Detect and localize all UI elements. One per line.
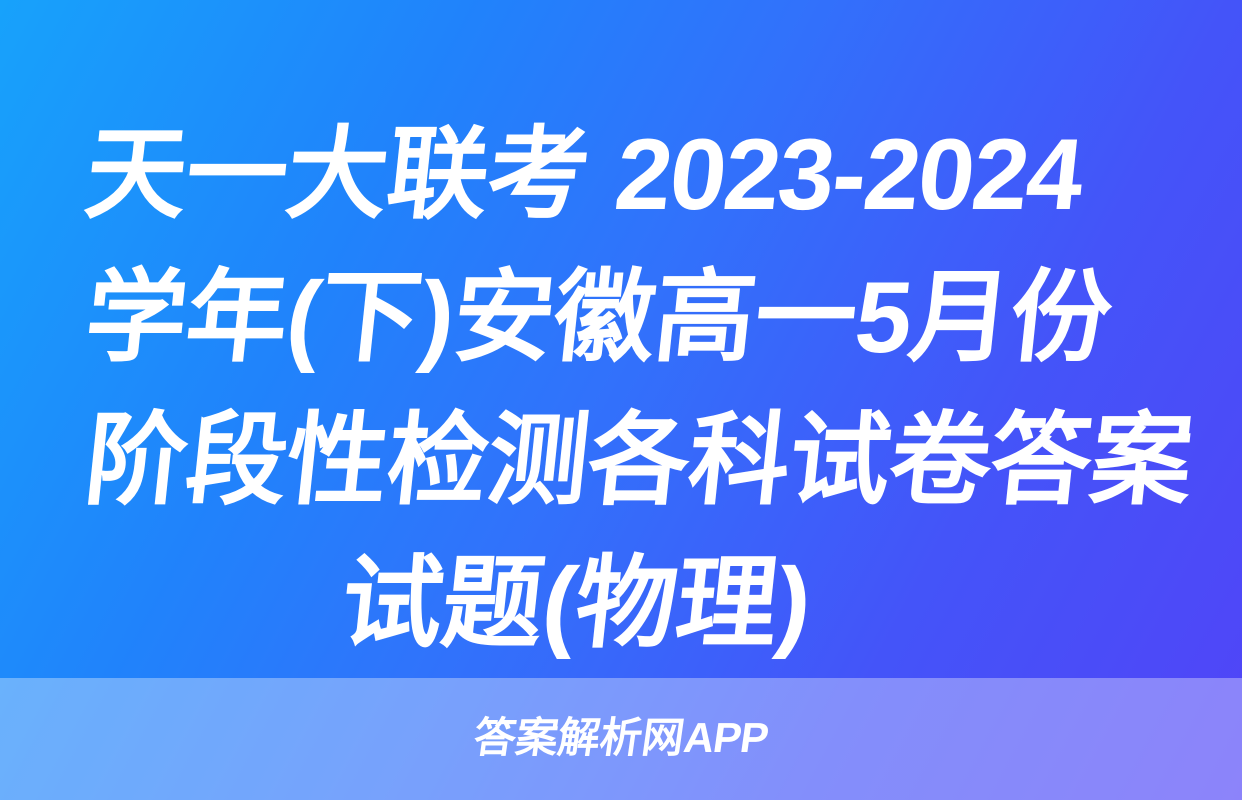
watermark-label: 答案解析网APP	[471, 717, 771, 761]
headline-block: 天一大联考 2023-2024 学年(下)安徽高一5月份 阶段性检测各科试卷答案…	[0, 0, 1242, 678]
headline-line-4-cn: 试题(物理)	[336, 548, 816, 660]
headline-line-4: 试题(物理)	[78, 533, 1163, 676]
headline-line-1: 天一大联考 2023-2024	[78, 104, 1163, 247]
headline-line-1-cn: 天一大联考	[80, 119, 622, 231]
watermark-band: 答案解析网APP	[0, 678, 1242, 800]
watermark-label-cn: 答案解析网	[471, 714, 688, 761]
headline-line-3-cn: 阶段性检测各科试卷答案	[80, 405, 1197, 517]
poster-canvas: 天一大联考 2023-2024 学年(下)安徽高一5月份 阶段性检测各科试卷答案…	[0, 0, 1242, 800]
headline-line-2-cn: 学年(下)安徽高一	[80, 262, 862, 374]
headline-line-3: 阶段性检测各科试卷答案	[78, 390, 1163, 533]
headline-line-2: 学年(下)安徽高一5月份	[78, 247, 1163, 390]
headline-line-1-years: 2023-2024	[610, 119, 1087, 231]
watermark-label-app: APP	[681, 714, 771, 761]
headline-line-2-cn-tail: 月份	[904, 262, 1117, 374]
